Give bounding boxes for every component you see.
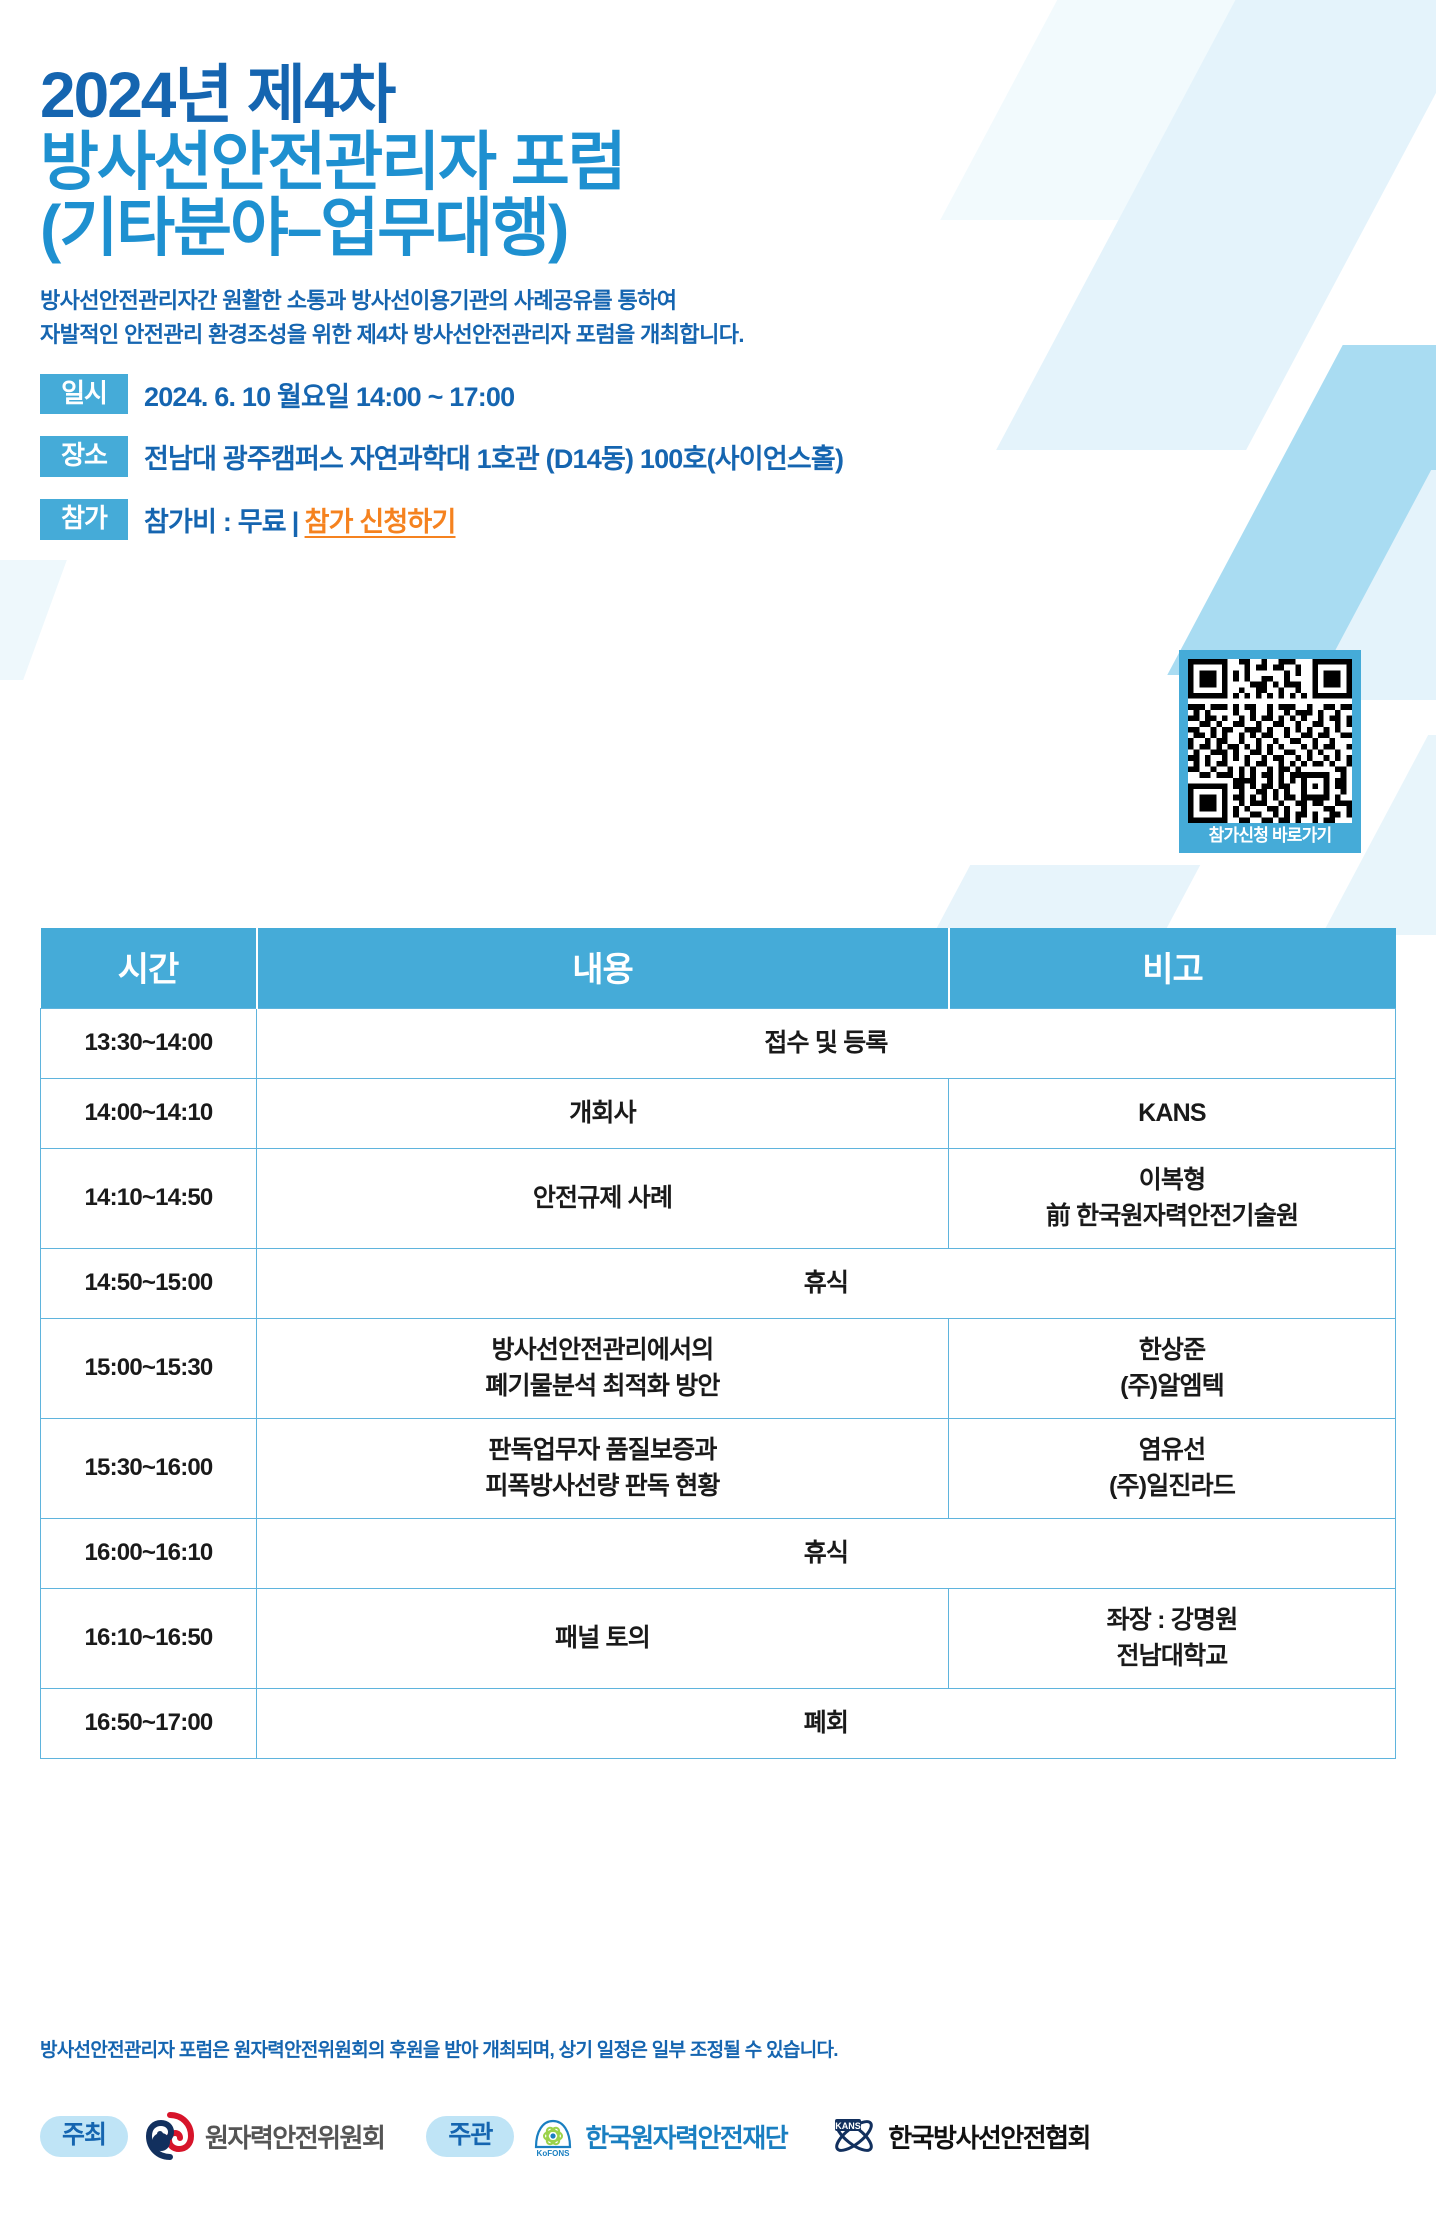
info-row-place: 장소 전남대 광주캠퍼스 자연과학대 1호관 (D14동) 100호(사이언스홀…	[40, 436, 1436, 477]
cell-note-line-1: 한상준	[955, 1333, 1389, 1369]
schedule-table: 시간 내용 비고 13:30~14:00접수 및 등록14:00~14:10개회…	[40, 928, 1396, 1759]
schedule-header-row: 시간 내용 비고	[41, 928, 1396, 1009]
column-header-note: 비고	[949, 928, 1396, 1009]
cell-note: 좌장 : 강명원전남대학교	[949, 1589, 1396, 1689]
subtitle-line-2: 자발적인 안전관리 환경조성을 위한 제4차 방사선안전관리자 포럼을 개최합니…	[40, 318, 1436, 352]
organizer-kans-name: 한국방사선안전협회	[888, 2118, 1090, 2155]
cell-note-line-2: 전남대학교	[955, 1639, 1389, 1675]
cell-content-line-1: 판독업무자 품질보증과	[263, 1433, 942, 1469]
cell-note-line-2: (주)일진라드	[955, 1469, 1389, 1505]
info-row-date: 일시 2024. 6. 10 월요일 14:00 ~ 17:00	[40, 374, 1436, 415]
cell-content-line-2: 폐기물분석 최적화 방안	[263, 1369, 942, 1405]
kans-logo-icon: KANS	[829, 2113, 879, 2159]
cell-time: 16:00~16:10	[41, 1519, 257, 1589]
qr-panel[interactable]: 참가신청 바로가기	[1179, 650, 1361, 853]
cell-content: 판독업무자 품질보증과피폭방사선량 판독 현황	[257, 1419, 949, 1519]
cell-time: 16:50~17:00	[41, 1689, 257, 1759]
cell-content: 개회사	[257, 1079, 949, 1149]
host-chip: 주최	[40, 2116, 128, 2157]
cell-time: 14:50~15:00	[41, 1249, 257, 1319]
event-info: 일시 2024. 6. 10 월요일 14:00 ~ 17:00 장소 전남대 …	[40, 374, 1436, 540]
cell-content: 휴식	[257, 1519, 1396, 1589]
table-row: 15:30~16:00판독업무자 품질보증과피폭방사선량 판독 현황염유선(주)…	[41, 1419, 1396, 1519]
cell-note-line-2: 前 한국원자력안전기술원	[955, 1199, 1389, 1235]
cell-content-line-1: 안전규제 사례	[263, 1181, 942, 1217]
cell-time: 14:10~14:50	[41, 1149, 257, 1249]
schedule-body: 13:30~14:00접수 및 등록14:00~14:10개회사KANS14:1…	[41, 1009, 1396, 1759]
korea-government-taegeuk-icon	[144, 2110, 196, 2162]
info-value-participation: 참가비 : 무료|참가 신청하기	[144, 500, 456, 539]
cell-content-line-1: 휴식	[263, 1536, 1389, 1572]
table-row: 16:50~17:00폐회	[41, 1689, 1396, 1759]
qr-caption: 참가신청 바로가기	[1188, 823, 1352, 849]
subtitle-line-1: 방사선안전관리자간 원활한 소통과 방사선이용기관의 사례공유를 통하여	[40, 284, 1436, 318]
cell-time: 14:00~14:10	[41, 1079, 257, 1149]
table-row: 16:00~16:10휴식	[41, 1519, 1396, 1589]
table-row: 13:30~14:00접수 및 등록	[41, 1009, 1396, 1079]
cell-note-line-1: KANS	[955, 1096, 1389, 1132]
cell-time: 16:10~16:50	[41, 1589, 257, 1689]
cell-note-line-2: (주)알엠텍	[955, 1369, 1389, 1405]
cell-content-line-1: 방사선안전관리에서의	[263, 1333, 942, 1369]
cell-content: 방사선안전관리에서의폐기물분석 최적화 방안	[257, 1319, 949, 1419]
poster-root: 2024년 제4차 방사선안전관리자 포럼 (기타분야–업무대행) 방사선안전관…	[0, 0, 1436, 540]
cell-content-line-1: 휴식	[263, 1266, 1389, 1302]
column-header-content: 내용	[257, 928, 949, 1009]
subtitle: 방사선안전관리자간 원활한 소통과 방사선이용기관의 사례공유를 통하여 자발적…	[40, 284, 1436, 352]
cell-content: 휴식	[257, 1249, 1396, 1319]
table-row: 15:00~15:30방사선안전관리에서의폐기물분석 최적화 방안한상준(주)알…	[41, 1319, 1396, 1419]
cell-time: 13:30~14:00	[41, 1009, 257, 1079]
cell-note: 이복형前 한국원자력안전기술원	[949, 1149, 1396, 1249]
page-title: 2024년 제4차 방사선안전관리자 포럼 (기타분야–업무대행)	[0, 0, 1436, 262]
cell-content-line-1: 접수 및 등록	[263, 1026, 1389, 1062]
info-label-place: 장소	[40, 436, 128, 477]
participation-fee: 참가비 : 무료	[144, 507, 286, 537]
column-header-time: 시간	[41, 928, 257, 1009]
info-row-participation: 참가 참가비 : 무료|참가 신청하기	[40, 499, 1436, 540]
cell-time: 15:00~15:30	[41, 1319, 257, 1419]
kofons-logo-icon: KoFONS	[530, 2113, 576, 2159]
organizer-kans: KANS 한국방사선안전협회	[829, 2113, 1090, 2159]
title-line-3: (기타분야–업무대행)	[40, 195, 1436, 262]
cell-content-line-2: 피폭방사선량 판독 현황	[263, 1469, 942, 1505]
organizer-kofons: KoFONS 한국원자력안전재단	[530, 2113, 787, 2159]
participation-separator: |	[286, 507, 305, 537]
table-row: 14:00~14:10개회사KANS	[41, 1079, 1396, 1149]
table-row: 14:10~14:50안전규제 사례이복형前 한국원자력안전기술원	[41, 1149, 1396, 1249]
host-organization: 원자력안전위원회	[144, 2110, 384, 2162]
cell-note: KANS	[949, 1079, 1396, 1149]
info-value-date: 2024. 6. 10 월요일 14:00 ~ 17:00	[144, 375, 514, 414]
info-label-date: 일시	[40, 374, 128, 415]
organizer-kofons-name: 한국원자력안전재단	[585, 2118, 787, 2155]
cell-time: 15:30~16:00	[41, 1419, 257, 1519]
cell-note-line-1: 염유선	[955, 1433, 1389, 1469]
kans-mark-text: KANS	[835, 2121, 861, 2131]
table-row: 16:10~16:50패널 토의좌장 : 강명원전남대학교	[41, 1589, 1396, 1689]
cell-note-line-1: 좌장 : 강명원	[955, 1603, 1389, 1639]
qr-code-icon[interactable]	[1188, 659, 1352, 823]
cell-note: 염유선(주)일진라드	[949, 1419, 1396, 1519]
cell-content-line-1: 패널 토의	[263, 1621, 942, 1657]
table-row: 14:50~15:00휴식	[41, 1249, 1396, 1319]
cell-content: 안전규제 사례	[257, 1149, 949, 1249]
cell-content: 폐회	[257, 1689, 1396, 1759]
cell-content: 패널 토의	[257, 1589, 949, 1689]
cell-note-line-1: 이복형	[955, 1163, 1389, 1199]
title-line-2: 방사선안전관리자 포럼	[40, 129, 1436, 196]
cell-content-line-1: 개회사	[263, 1096, 942, 1132]
decor-shape-notch-left	[0, 560, 67, 680]
title-line-1: 2024년 제4차	[40, 62, 1436, 129]
apply-link[interactable]: 참가 신청하기	[305, 507, 456, 537]
host-organization-name: 원자력안전위원회	[205, 2118, 384, 2155]
disclaimer-text: 방사선안전관리자 포럼은 원자력안전위원회의 후원을 받아 개최되며, 상기 일…	[40, 2035, 838, 2062]
kofons-mark-text: KoFONS	[537, 2149, 571, 2158]
cell-note: 한상준(주)알엠텍	[949, 1319, 1396, 1419]
cell-content: 접수 및 등록	[257, 1009, 1396, 1079]
info-value-place: 전남대 광주캠퍼스 자연과학대 1호관 (D14동) 100호(사이언스홀)	[144, 437, 843, 476]
organizer-chip: 주관	[426, 2116, 514, 2157]
cell-content-line-1: 폐회	[263, 1706, 1389, 1742]
footer-sponsors: 주최 원자력안전위원회 주관 KoFONS 한국원자력안전재단	[40, 2110, 1400, 2162]
info-label-participation: 참가	[40, 499, 128, 540]
